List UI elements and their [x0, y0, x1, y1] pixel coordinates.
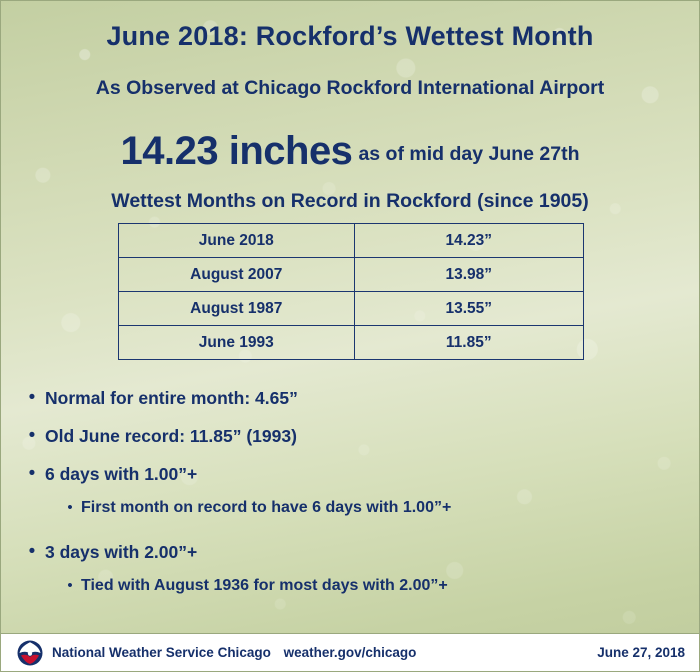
list-item-label: Normal for entire month: 4.65” [45, 387, 298, 409]
bullet-dot-icon: • [19, 425, 45, 447]
table-row: August 2007 13.98” [119, 258, 584, 292]
facts-list: • Normal for entire month: 4.65” • Old J… [19, 387, 679, 619]
page-subtitle: As Observed at Chicago Rockford Internat… [1, 77, 699, 100]
footer-bar: National Weather Service Chicago weather… [1, 633, 699, 671]
bullet-dot-icon: • [19, 463, 45, 485]
bullet-dot-icon: • [59, 497, 81, 519]
list-item-label: Tied with August 1936 for most days with… [81, 575, 448, 597]
records-table-heading: Wettest Months on Record in Rockford (si… [1, 190, 699, 213]
total-precip-asof: as of mid day June 27th [358, 143, 579, 165]
footer-date-label: June 27, 2018 [597, 645, 685, 660]
bullet-dot-icon: • [19, 387, 45, 409]
wettest-months-table: June 2018 14.23” August 2007 13.98” Augu… [118, 223, 584, 360]
list-item: • 3 days with 2.00”+ [19, 541, 679, 563]
table-cell-month: August 2007 [119, 258, 355, 292]
table-cell-value: 13.55” [354, 292, 584, 326]
list-item-label: 3 days with 2.00”+ [45, 541, 197, 563]
table-cell-value: 14.23” [354, 224, 584, 258]
list-item: • Old June record: 11.85” (1993) [19, 425, 679, 447]
table-row: June 1993 11.85” [119, 326, 584, 360]
table-cell-month: June 2018 [119, 224, 355, 258]
bullet-dot-icon: • [59, 575, 81, 597]
total-precip-amount: 14.23 inches [121, 129, 353, 173]
infographic-poster: June 2018: Rockford’s Wettest Month As O… [0, 0, 700, 672]
list-item-label: 6 days with 1.00”+ [45, 463, 197, 485]
bullet-dot-icon: • [19, 541, 45, 563]
table-cell-value: 11.85” [354, 326, 584, 360]
table-row: August 1987 13.55” [119, 292, 584, 326]
table-cell-month: August 1987 [119, 292, 355, 326]
headline-total: 14.23 inchesas of mid day June 27th [1, 129, 699, 174]
table-row: June 2018 14.23” [119, 224, 584, 258]
footer-website-link[interactable]: weather.gov/chicago [1, 645, 699, 660]
list-item-label: Old June record: 11.85” (1993) [45, 425, 297, 447]
list-item-nested: • First month on record to have 6 days w… [59, 497, 679, 519]
table-cell-month: June 1993 [119, 326, 355, 360]
list-item-label: First month on record to have 6 days wit… [81, 497, 451, 519]
list-item: • Normal for entire month: 4.65” [19, 387, 679, 409]
page-title: June 2018: Rockford’s Wettest Month [1, 21, 699, 52]
list-item-nested: • Tied with August 1936 for most days wi… [59, 575, 679, 597]
table-cell-value: 13.98” [354, 258, 584, 292]
list-item: • 6 days with 1.00”+ [19, 463, 679, 485]
